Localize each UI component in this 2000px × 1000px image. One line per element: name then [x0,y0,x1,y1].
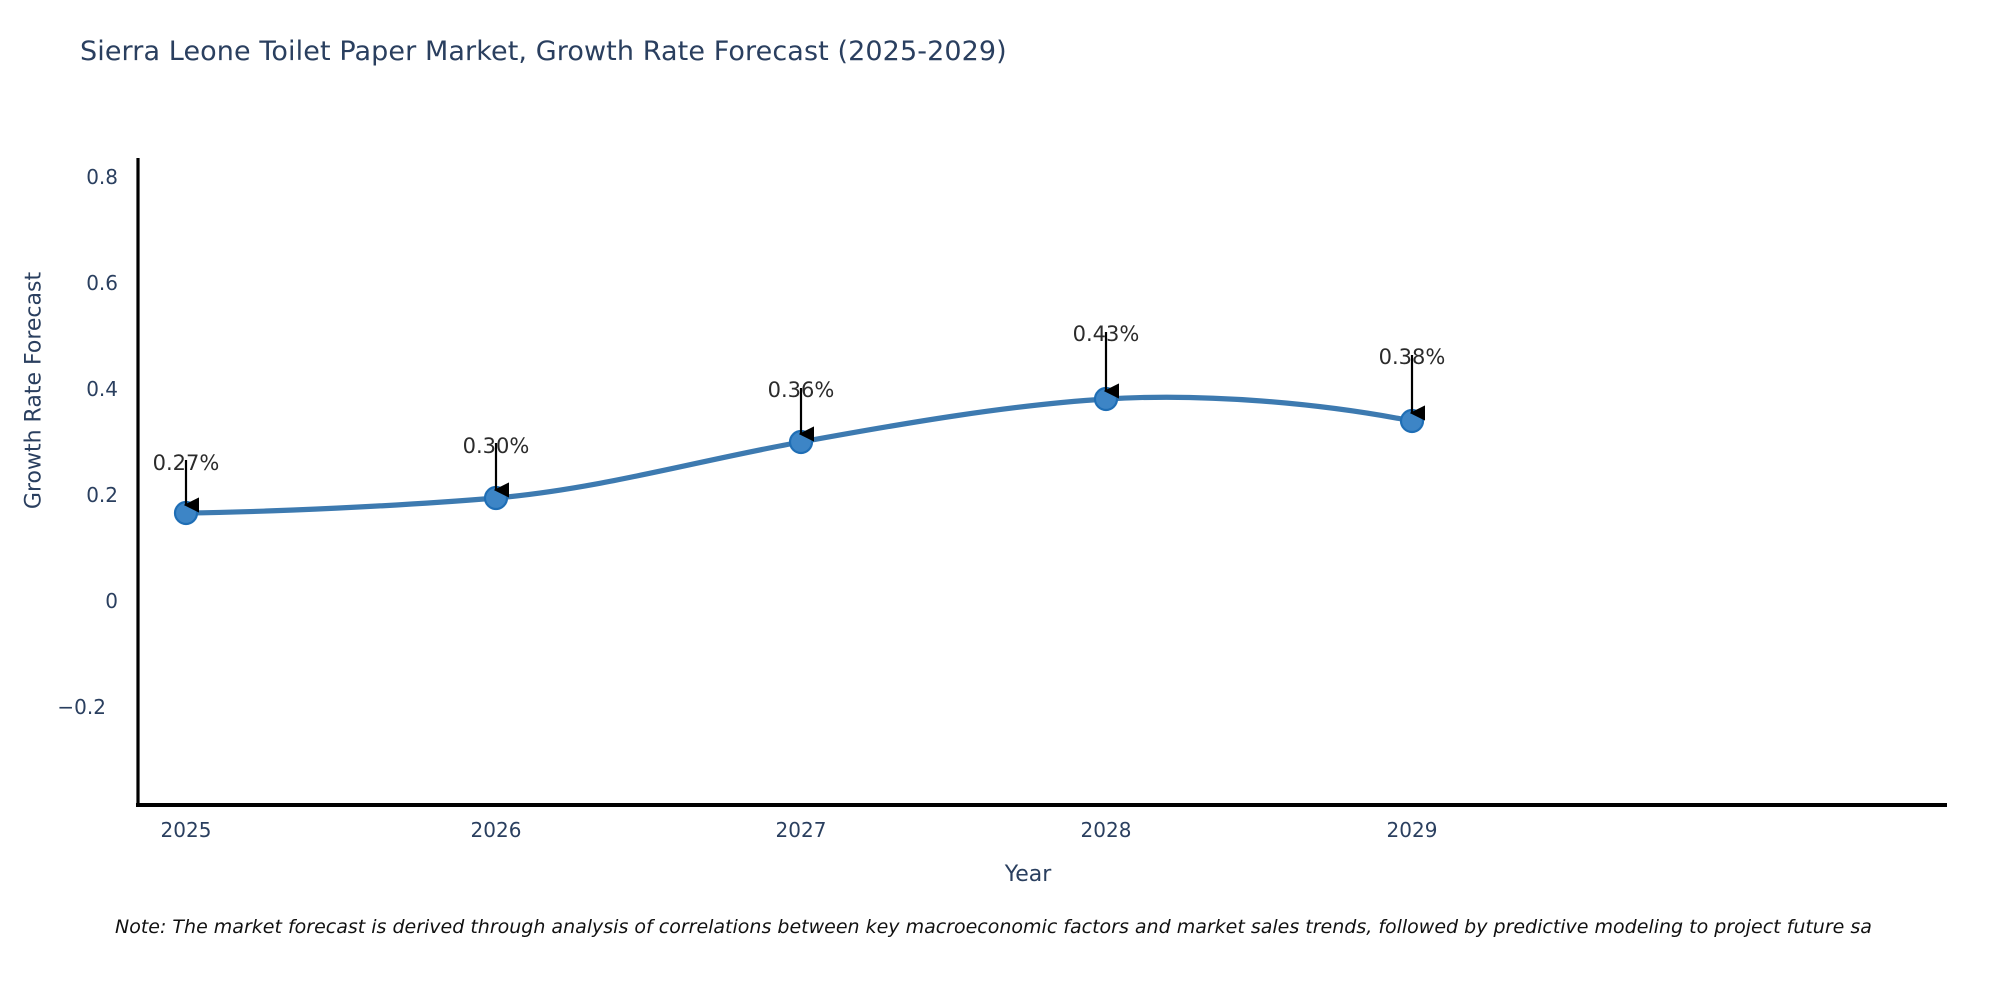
data-point-marker[interactable] [1095,388,1117,410]
data-point-marker[interactable] [175,502,197,524]
data-point-marker[interactable] [1401,410,1423,432]
chart-note: Note: The market forecast is derived thr… [115,916,2000,938]
data-point-label: 0.27% [106,451,266,475]
data-point-label: 0.38% [1332,345,1492,369]
data-point-label: 0.30% [416,434,576,458]
data-point-marker[interactable] [790,431,812,453]
chart-canvas: Sierra Leone Toilet Paper Market, Growth… [0,0,2000,1000]
plot-svg [0,0,2000,1000]
series-line [186,397,1412,513]
data-point-marker[interactable] [485,487,507,509]
data-point-label: 0.43% [1026,322,1186,346]
data-point-label: 0.36% [721,378,881,402]
